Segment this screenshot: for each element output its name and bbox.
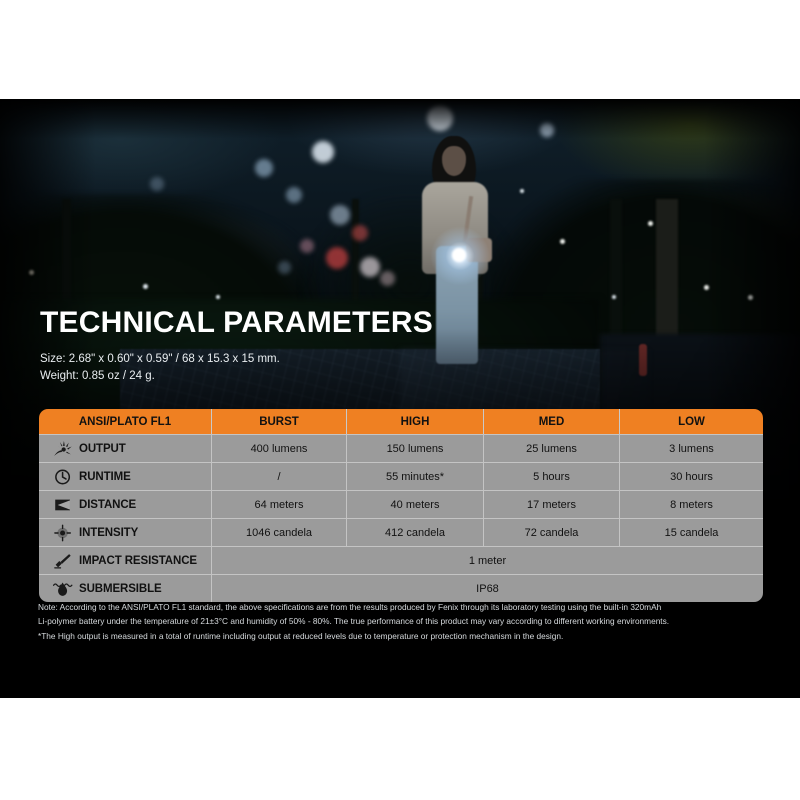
technical-parameters-table: ANSI/PLATO FL1 BURST HIGH MED LOW — [39, 409, 763, 602]
row-label: DISTANCE — [79, 499, 136, 511]
row-label-cell: SUBMERSIBLE — [39, 574, 212, 602]
table-row: IMPACT RESISTANCE 1 meter — [39, 546, 763, 574]
cell-med: 25 lumens — [484, 434, 620, 462]
table-header-row: ANSI/PLATO FL1 BURST HIGH MED LOW — [39, 409, 763, 434]
size-spec-line: Size: 2.68" x 0.60" x 0.59" / 68 x 15.3 … — [40, 353, 280, 366]
row-label: IMPACT RESISTANCE — [79, 555, 197, 567]
cell-low: 15 candela — [620, 518, 763, 546]
cell-submersible-value: IP68 — [212, 574, 763, 602]
cell-burst: 64 meters — [212, 490, 347, 518]
page-root: TECHNICAL PARAMETERS Size: 2.68" x 0.60"… — [0, 0, 800, 800]
cell-low: 30 hours — [620, 462, 763, 490]
table-row: SUBMERSIBLE IP68 — [39, 574, 763, 602]
cell-med: 72 candela — [484, 518, 620, 546]
row-label-cell: OUTPUT — [39, 434, 212, 462]
row-label-cell: DISTANCE — [39, 490, 212, 518]
cell-low: 8 meters — [620, 490, 763, 518]
column-header-med: MED — [484, 409, 620, 434]
table-row: RUNTIME / 55 minutes* 5 hours 30 hours — [39, 462, 763, 490]
footnote-block: Note: According to the ANSI/PLATO FL1 st… — [38, 600, 764, 643]
column-header-standard: ANSI/PLATO FL1 — [39, 409, 212, 434]
weight-spec-line: Weight: 0.85 oz / 24 g. — [40, 370, 155, 383]
crosshair-icon — [53, 524, 73, 542]
column-header-high: HIGH — [347, 409, 484, 434]
cell-med: 5 hours — [484, 462, 620, 490]
cell-burst: 1046 candela — [212, 518, 347, 546]
row-label: INTENSITY — [79, 527, 138, 539]
footnote-line-1: Note: According to the ANSI/PLATO FL1 st… — [38, 600, 764, 614]
cell-high: 412 candela — [347, 518, 484, 546]
cell-med: 17 meters — [484, 490, 620, 518]
clock-icon — [53, 468, 73, 486]
content-layer: TECHNICAL PARAMETERS Size: 2.68" x 0.60"… — [0, 0, 800, 800]
table-row: OUTPUT 400 lumens 150 lumens 25 lumens 3… — [39, 434, 763, 462]
page-title: TECHNICAL PARAMETERS — [40, 308, 433, 338]
row-label: RUNTIME — [79, 471, 131, 483]
water-drop-icon — [53, 580, 73, 598]
beam-cone-icon — [53, 496, 73, 514]
hammer-icon — [53, 552, 73, 570]
cell-impact-resistance-value: 1 meter — [212, 546, 763, 574]
cell-high: 55 minutes* — [347, 462, 484, 490]
row-label-cell: INTENSITY — [39, 518, 212, 546]
row-label: OUTPUT — [79, 443, 126, 455]
row-label: SUBMERSIBLE — [79, 583, 162, 595]
footnote-line-2: Li-polymer battery under the temperature… — [38, 614, 764, 628]
footnote-line-3: *The High output is measured in a total … — [38, 629, 764, 643]
cell-high: 150 lumens — [347, 434, 484, 462]
cell-burst: / — [212, 462, 347, 490]
sun-burst-icon — [53, 440, 73, 458]
cell-low: 3 lumens — [620, 434, 763, 462]
column-header-low: LOW — [620, 409, 763, 434]
column-header-burst: BURST — [212, 409, 347, 434]
table-row: INTENSITY 1046 candela 412 candela 72 ca… — [39, 518, 763, 546]
table-row: DISTANCE 64 meters 40 meters 17 meters 8… — [39, 490, 763, 518]
cell-burst: 400 lumens — [212, 434, 347, 462]
row-label-cell: IMPACT RESISTANCE — [39, 546, 212, 574]
row-label-cell: RUNTIME — [39, 462, 212, 490]
cell-high: 40 meters — [347, 490, 484, 518]
